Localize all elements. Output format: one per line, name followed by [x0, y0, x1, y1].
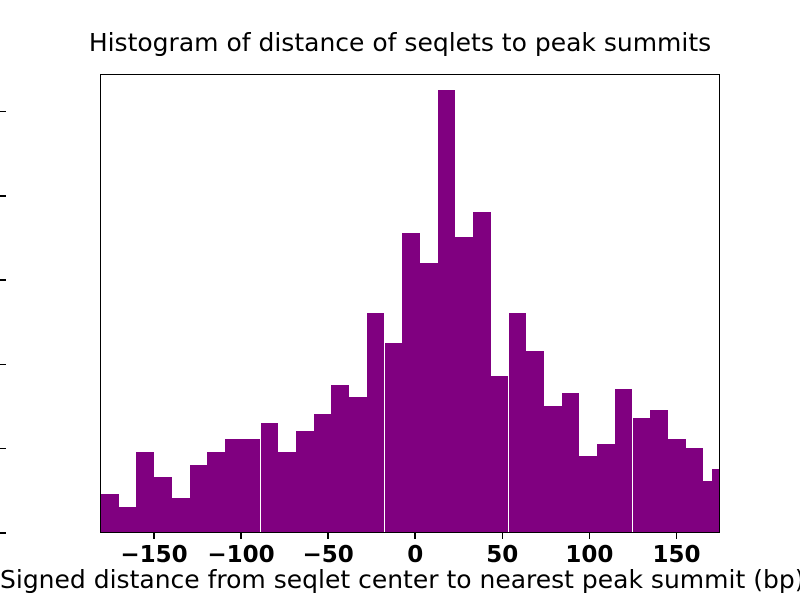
x-tick-mark — [589, 533, 591, 539]
histogram-bar — [615, 389, 633, 532]
histogram-bars — [101, 75, 719, 532]
histogram-bar — [172, 498, 190, 532]
histogram-bar — [207, 452, 225, 532]
histogram-bar — [473, 212, 491, 532]
histogram-bar — [296, 431, 314, 532]
histogram-bar — [650, 410, 668, 532]
histogram-bar — [119, 507, 137, 532]
histogram-bar — [579, 456, 597, 532]
chart-title: Histogram of distance of seqlets to peak… — [0, 28, 800, 58]
histogram-bar — [225, 439, 243, 532]
y-tick-mark — [0, 195, 6, 197]
x-tick-mark — [240, 533, 242, 539]
histogram-bar — [438, 90, 456, 532]
x-tick-mark — [327, 533, 329, 539]
y-tick-mark — [0, 364, 6, 366]
y-tick-mark — [0, 448, 6, 450]
y-tick-mark — [0, 111, 6, 113]
histogram-bar — [686, 448, 704, 532]
histogram-bar — [491, 376, 509, 532]
histogram-bar — [526, 351, 544, 532]
histogram-bar — [668, 439, 686, 532]
histogram-bar — [314, 414, 332, 532]
histogram-bar — [420, 263, 438, 533]
histogram-bar — [633, 418, 651, 532]
x-axis-label: Signed distance from seqlet center to ne… — [0, 565, 800, 594]
histogram-bar — [455, 237, 473, 532]
histogram-bar — [278, 452, 296, 532]
x-tick-mark — [153, 533, 155, 539]
histogram-bar — [136, 452, 154, 532]
histogram-bar — [243, 439, 261, 532]
histogram-bar — [349, 397, 367, 532]
histogram-bar — [712, 469, 720, 532]
histogram-bar — [509, 313, 527, 532]
x-tick-mark — [676, 533, 678, 539]
y-axis: 020406080100 — [0, 0, 100, 600]
histogram-bar — [261, 423, 279, 532]
histogram-bar — [331, 385, 349, 532]
histogram-bar — [402, 233, 420, 532]
x-tick-mark — [502, 533, 504, 539]
y-tick-mark — [0, 279, 6, 281]
histogram-bar — [154, 477, 172, 532]
histogram-bar — [544, 406, 562, 532]
x-tick-mark — [414, 533, 416, 539]
figure-canvas: Histogram of distance of seqlets to peak… — [0, 0, 800, 600]
histogram-bar — [385, 343, 403, 532]
histogram-bar — [597, 444, 615, 532]
histogram-bar — [101, 494, 119, 532]
histogram-bar — [190, 465, 208, 532]
plot-area — [100, 74, 720, 533]
histogram-bar — [562, 393, 580, 532]
histogram-bar — [367, 313, 385, 532]
